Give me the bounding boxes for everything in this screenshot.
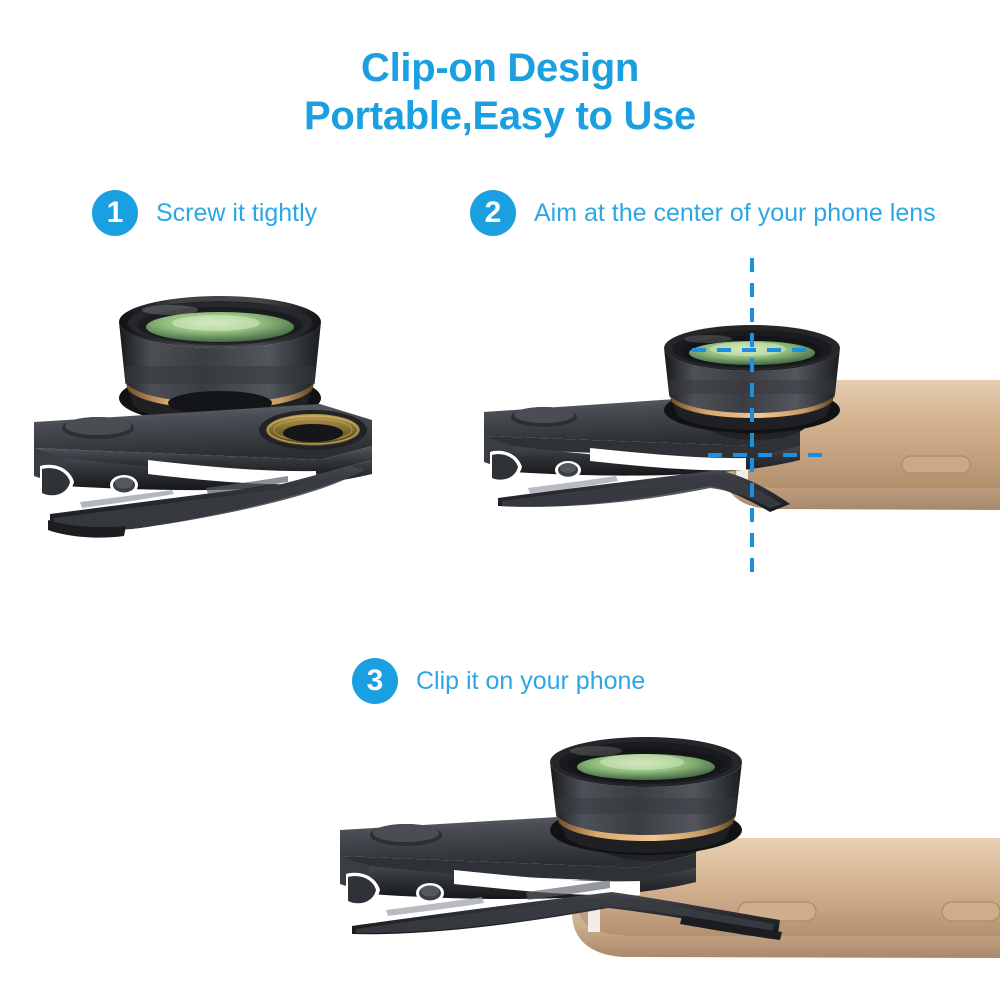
step-2-illustration bbox=[470, 250, 1000, 580]
step-1-label: Screw it tightly bbox=[156, 201, 317, 226]
step-2-badge: 2 bbox=[470, 190, 516, 236]
step-3-badge: 3 bbox=[352, 658, 398, 704]
step-3-header: 3 Clip it on your phone bbox=[352, 658, 645, 704]
clip-graphic bbox=[34, 404, 372, 538]
step-3-illustration bbox=[330, 720, 1000, 980]
step-2-header: 2 Aim at the center of your phone lens bbox=[470, 190, 936, 236]
headline-line-2: Portable,Easy to Use bbox=[0, 92, 1000, 140]
page-title: Clip-on Design Portable,Easy to Use bbox=[0, 44, 1000, 140]
step-1-header: 1 Screw it tightly bbox=[92, 190, 317, 236]
step-2-label: Aim at the center of your phone lens bbox=[534, 201, 936, 226]
step-1-illustration bbox=[20, 270, 420, 580]
headline-line-1: Clip-on Design bbox=[361, 46, 639, 90]
step-3-label: Clip it on your phone bbox=[416, 669, 645, 694]
step-1-badge: 1 bbox=[92, 190, 138, 236]
detached-lens-graphic bbox=[119, 296, 321, 425]
infographic-page: Clip-on Design Portable,Easy to Use 1 Sc… bbox=[0, 0, 1000, 1000]
lens-on-clip-graphic bbox=[550, 737, 742, 855]
